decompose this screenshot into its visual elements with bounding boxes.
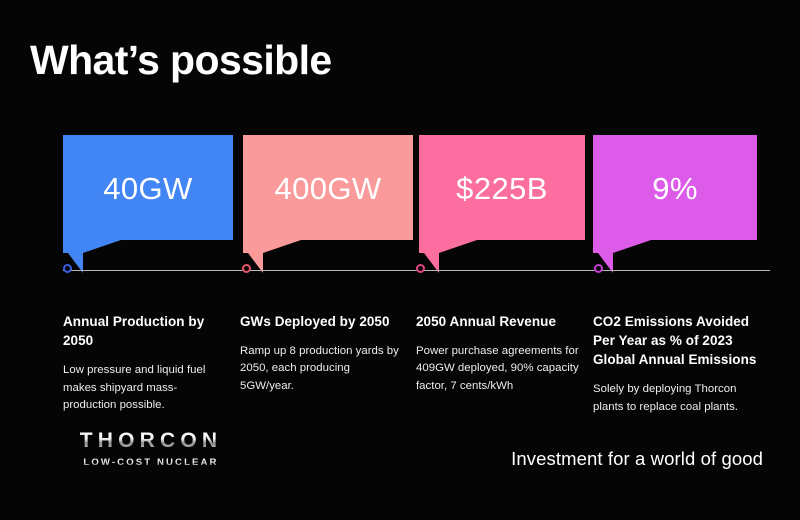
timeline-marker-1[interactable] xyxy=(63,264,72,273)
timeline-marker-2[interactable] xyxy=(242,264,251,273)
metric-detail-2: GWs Deployed by 2050 Ramp up 8 productio… xyxy=(240,312,402,395)
metric-detail-4-heading: CO2 Emissions Avoided Per Year as % of 2… xyxy=(593,312,758,369)
metric-detail-1: Annual Production by 2050 Low pressure a… xyxy=(63,312,225,414)
metric-detail-2-heading: GWs Deployed by 2050 xyxy=(240,312,402,331)
thorcon-logo-tagline: LOW-COST NUCLEAR xyxy=(61,458,241,468)
thorcon-logo: THORCON LOW-COST NUCLEAR xyxy=(61,430,241,468)
timeline-marker-3[interactable] xyxy=(416,264,425,273)
metric-card-4-value: 9% xyxy=(593,173,757,204)
metric-detail-2-description: Ramp up 8 production yards by 2050, each… xyxy=(240,343,402,395)
metric-card-3-tail xyxy=(419,240,477,271)
metric-card-1[interactable]: 40GW xyxy=(63,135,233,240)
metric-detail-3-description: Power purchase agreements for 409GW depl… xyxy=(416,343,581,395)
timeline-marker-4[interactable] xyxy=(594,264,603,273)
metric-card-3[interactable]: $225B xyxy=(419,135,585,240)
metric-detail-3-heading: 2050 Annual Revenue xyxy=(416,312,581,331)
metric-card-4[interactable]: 9% xyxy=(593,135,757,240)
metric-card-1-value: 40GW xyxy=(63,173,233,204)
metric-detail-1-heading: Annual Production by 2050 xyxy=(63,312,225,350)
slide-root: What’s possible 40GW 400GW xyxy=(0,0,800,520)
metric-card-2-value: 400GW xyxy=(243,173,413,204)
metric-detail-4: CO2 Emissions Avoided Per Year as % of 2… xyxy=(593,312,758,416)
metric-card-2-tail xyxy=(243,240,301,271)
thorcon-logo-wordmark: THORCON xyxy=(61,430,241,451)
metric-cards-group: 40GW 400GW $225B xyxy=(0,0,800,280)
metric-card-2[interactable]: 400GW xyxy=(243,135,413,240)
metric-detail-4-description: Solely by deploying Thorcon plants to re… xyxy=(593,381,758,416)
slide-tagline: Investment for a world of good xyxy=(511,450,763,469)
metric-detail-3: 2050 Annual Revenue Power purchase agree… xyxy=(416,312,581,395)
metric-card-3-value: $225B xyxy=(419,173,585,204)
metric-detail-1-description: Low pressure and liquid fuel makes shipy… xyxy=(63,362,225,414)
